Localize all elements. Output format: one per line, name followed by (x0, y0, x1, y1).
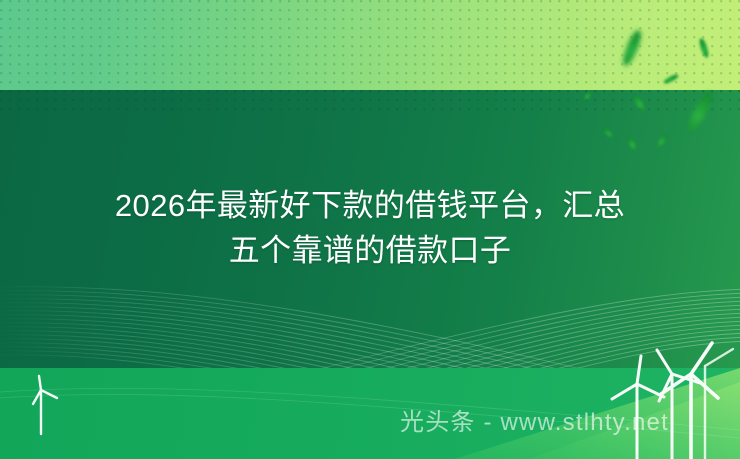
watermark-text: 光头条 - www.stlhty.net (400, 408, 669, 438)
poster-image: 2026年最新好下款的借钱平台，汇总 五个靠谱的借款口子 光头条 - www.s… (0, 0, 740, 459)
background-band-top (0, 0, 740, 90)
page-title: 2026年最新好下款的借钱平台，汇总 五个靠谱的借款口子 (0, 183, 740, 273)
